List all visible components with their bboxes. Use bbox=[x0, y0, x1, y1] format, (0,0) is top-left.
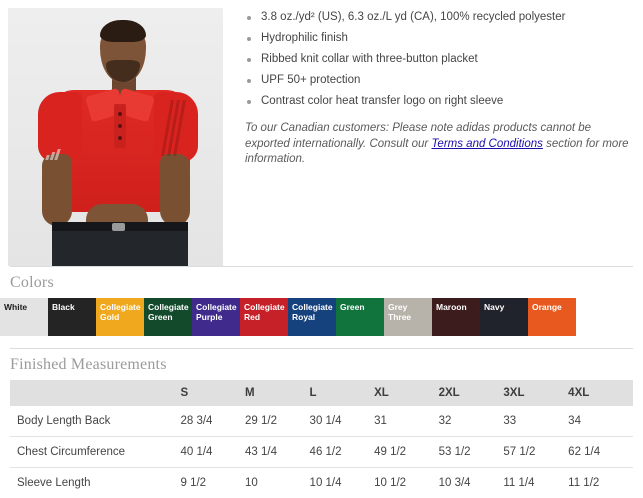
row-value: 10 1/2 bbox=[374, 468, 439, 498]
color-swatch-label: Collegiate Green bbox=[148, 302, 189, 322]
color-swatch-label: Collegiate Red bbox=[244, 302, 285, 322]
feature-item: Contrast color heat transfer logo on rig… bbox=[243, 94, 633, 109]
color-swatch-label: Navy bbox=[484, 302, 504, 312]
color-swatch-label: Collegiate Royal bbox=[292, 302, 333, 322]
color-swatch-row: White Black Collegiate Gold Collegiate G… bbox=[0, 298, 643, 336]
color-swatch[interactable]: Collegiate Purple bbox=[192, 298, 240, 336]
color-swatch-label: Grey Three bbox=[388, 302, 411, 322]
color-swatch[interactable]: Navy bbox=[480, 298, 528, 336]
measurements-heading: Finished Measurements bbox=[0, 349, 643, 380]
feature-item: 3.8 oz./yd² (US), 6.3 oz./L yd (CA), 100… bbox=[243, 10, 633, 25]
color-swatch[interactable]: Orange bbox=[528, 298, 576, 336]
row-value: 62 1/4 bbox=[568, 437, 633, 468]
row-value: 43 1/4 bbox=[245, 437, 310, 468]
color-swatch-label: Collegiate Gold bbox=[100, 302, 141, 322]
color-swatch[interactable]: Green bbox=[336, 298, 384, 336]
feature-item: UPF 50+ protection bbox=[243, 73, 633, 88]
color-swatch-label: Green bbox=[340, 302, 365, 312]
color-swatch-label: Collegiate Purple bbox=[196, 302, 237, 322]
row-value: 11 1/4 bbox=[503, 468, 568, 498]
model-arm-left bbox=[42, 154, 72, 226]
row-value: 31 bbox=[374, 406, 439, 437]
feature-item: Ribbed knit collar with three-button pla… bbox=[243, 52, 633, 67]
row-value: 32 bbox=[439, 406, 504, 437]
row-value: 10 bbox=[245, 468, 310, 498]
table-row: Chest Circumference 40 1/4 43 1/4 46 1/2… bbox=[10, 437, 633, 468]
column-header-size: 3XL bbox=[503, 380, 568, 406]
row-value: 9 1/2 bbox=[180, 468, 245, 498]
table-header-row: S M L XL 2XL 3XL 4XL bbox=[10, 380, 633, 406]
color-swatch[interactable]: Black bbox=[48, 298, 96, 336]
column-header-label bbox=[10, 380, 180, 406]
product-image[interactable] bbox=[8, 8, 223, 266]
color-swatch[interactable]: Maroon bbox=[432, 298, 480, 336]
row-value: 33 bbox=[503, 406, 568, 437]
column-header-size: L bbox=[310, 380, 375, 406]
color-swatch[interactable]: Grey Three bbox=[384, 298, 432, 336]
color-swatch-label: Black bbox=[52, 302, 75, 312]
polo-button-2 bbox=[118, 124, 122, 128]
polo-button-3 bbox=[118, 136, 122, 140]
polo-button-1 bbox=[118, 112, 122, 116]
feature-item: Hydrophilic finish bbox=[243, 31, 633, 46]
row-value: 49 1/2 bbox=[374, 437, 439, 468]
row-value: 28 3/4 bbox=[180, 406, 245, 437]
row-value: 53 1/2 bbox=[439, 437, 504, 468]
color-swatch-label: White bbox=[4, 302, 27, 312]
measurements-table: S M L XL 2XL 3XL 4XL Body Length Back 28… bbox=[10, 380, 633, 498]
color-swatch[interactable]: Collegiate Royal bbox=[288, 298, 336, 336]
terms-and-conditions-link[interactable]: Terms and Conditions bbox=[431, 138, 542, 150]
adidas-logo-icon bbox=[46, 148, 62, 160]
row-value: 29 1/2 bbox=[245, 406, 310, 437]
row-label: Chest Circumference bbox=[10, 437, 180, 468]
row-label: Sleeve Length bbox=[10, 468, 180, 498]
color-swatch[interactable]: Collegiate Green bbox=[144, 298, 192, 336]
table-header: S M L XL 2XL 3XL 4XL bbox=[10, 380, 633, 406]
feature-list: 3.8 oz./yd² (US), 6.3 oz./L yd (CA), 100… bbox=[243, 10, 633, 109]
color-swatch[interactable]: White bbox=[0, 298, 48, 336]
table-row: Sleeve Length 9 1/2 10 10 1/4 10 1/2 10 … bbox=[10, 468, 633, 498]
row-value: 46 1/2 bbox=[310, 437, 375, 468]
feature-section: 3.8 oz./yd² (US), 6.3 oz./L yd (CA), 100… bbox=[223, 0, 643, 179]
column-header-size: M bbox=[245, 380, 310, 406]
table-body: Body Length Back 28 3/4 29 1/2 30 1/4 31… bbox=[10, 406, 633, 498]
row-value: 34 bbox=[568, 406, 633, 437]
model-hair bbox=[100, 20, 146, 42]
color-swatch-label: Orange bbox=[532, 302, 562, 312]
row-value: 57 1/2 bbox=[503, 437, 568, 468]
row-value: 30 1/4 bbox=[310, 406, 375, 437]
row-value: 11 1/2 bbox=[568, 468, 633, 498]
row-value: 10 3/4 bbox=[439, 468, 504, 498]
canadian-customers-note: To our Canadian customers: Please note a… bbox=[243, 121, 633, 168]
row-label: Body Length Back bbox=[10, 406, 180, 437]
model-arm-right bbox=[160, 154, 190, 226]
measurements-table-wrap: S M L XL 2XL 3XL 4XL Body Length Back 28… bbox=[10, 380, 633, 498]
colors-heading: Colors bbox=[0, 267, 643, 298]
sleeve-stripes bbox=[166, 100, 184, 156]
belt-buckle bbox=[112, 223, 125, 231]
row-value: 10 1/4 bbox=[310, 468, 375, 498]
row-value: 40 1/4 bbox=[180, 437, 245, 468]
column-header-size: XL bbox=[374, 380, 439, 406]
column-header-size: S bbox=[180, 380, 245, 406]
color-swatch[interactable]: Collegiate Gold bbox=[96, 298, 144, 336]
color-swatch[interactable]: Collegiate Red bbox=[240, 298, 288, 336]
product-overview: 3.8 oz./yd² (US), 6.3 oz./L yd (CA), 100… bbox=[0, 0, 643, 266]
table-row: Body Length Back 28 3/4 29 1/2 30 1/4 31… bbox=[10, 406, 633, 437]
column-header-size: 2XL bbox=[439, 380, 504, 406]
column-header-size: 4XL bbox=[568, 380, 633, 406]
color-swatch-label: Maroon bbox=[436, 302, 467, 312]
